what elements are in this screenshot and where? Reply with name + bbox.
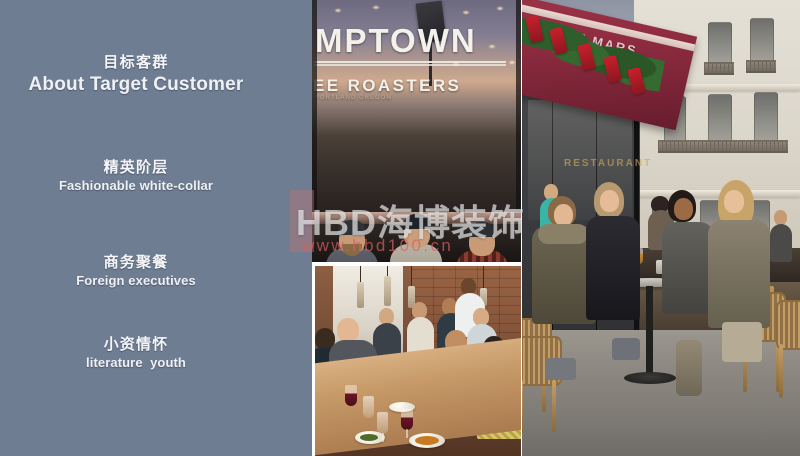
- wine-glass: [363, 396, 374, 418]
- fur-hood: [538, 224, 588, 244]
- photo-coffee-shop: MPTOWN EE ROASTERS PORTLAND OREGON: [312, 0, 521, 262]
- building-window: [754, 92, 778, 144]
- pendant-lamp: [384, 276, 391, 306]
- segment-item-youth: 小资情怀 literature youth: [0, 337, 272, 370]
- left-text-panel: 目标客群 About Target Customer 精英阶层 Fashiona…: [0, 0, 312, 456]
- ceiling-light: [508, 60, 516, 65]
- building-window: [750, 18, 774, 66]
- segment-business-cn: 商务聚餐: [0, 255, 272, 272]
- glass-stem: [406, 429, 408, 438]
- storefront-sign-sub: PORTLAND OREGON: [315, 95, 392, 101]
- ceiling-light: [462, 10, 470, 15]
- storefront-sign-secondary: EE ROASTERS: [313, 76, 461, 96]
- building-window: [708, 94, 732, 146]
- pendant-lamp: [357, 282, 364, 308]
- ceiling-light: [488, 44, 496, 49]
- segment-elite-cn: 精英阶层: [0, 160, 272, 177]
- ceiling-light: [372, 5, 380, 10]
- segment-elite-en: Fashionable white-collar: [0, 179, 272, 194]
- page-title-en: About Target Customer: [0, 74, 272, 95]
- wrought-iron-balcony: [658, 140, 788, 153]
- segment-youth-en: literature youth: [0, 356, 272, 371]
- page-title: 目标客群 About Target Customer: [0, 55, 272, 95]
- red-wine-glass: [401, 409, 413, 430]
- lamp-cord: [360, 266, 361, 282]
- lamp-cord: [387, 266, 388, 276]
- plated-food: [360, 434, 378, 441]
- wrought-iron-balcony: [746, 60, 776, 73]
- light-trousers: [722, 322, 762, 362]
- table-base: [624, 372, 676, 384]
- plated-food: [415, 436, 439, 445]
- ceiling-light: [334, 8, 342, 13]
- glass-stem: [382, 433, 384, 442]
- segment-youth-cn: 小资情怀: [0, 337, 272, 354]
- photo-paris-cafe: RESTAURANT CAFE DE MARS: [522, 0, 800, 456]
- sign-divider-rule: [314, 61, 506, 63]
- photo-dinner-party: [315, 266, 521, 456]
- cafe-gold-lettering: RESTAURANT: [564, 158, 652, 169]
- ceiling-light: [496, 6, 504, 11]
- segment-item-elite: 精英阶层 Fashionable white-collar: [0, 160, 272, 193]
- wine-glass: [377, 412, 388, 434]
- page-title-cn: 目标客群: [0, 55, 272, 72]
- segment-item-business: 商务聚餐 Foreign executives: [0, 255, 272, 288]
- segment-business-en: Foreign executives: [0, 274, 272, 289]
- red-wine-glass: [345, 385, 357, 406]
- table-pedestal: [646, 286, 653, 378]
- lamp-cord: [411, 266, 412, 286]
- slide-canvas: 目标客群 About Target Customer 精英阶层 Fashiona…: [0, 0, 800, 456]
- lamp-cord: [483, 266, 484, 288]
- wrought-iron-balcony: [704, 62, 734, 75]
- storefront-sign-primary: MPTOWN: [315, 22, 477, 60]
